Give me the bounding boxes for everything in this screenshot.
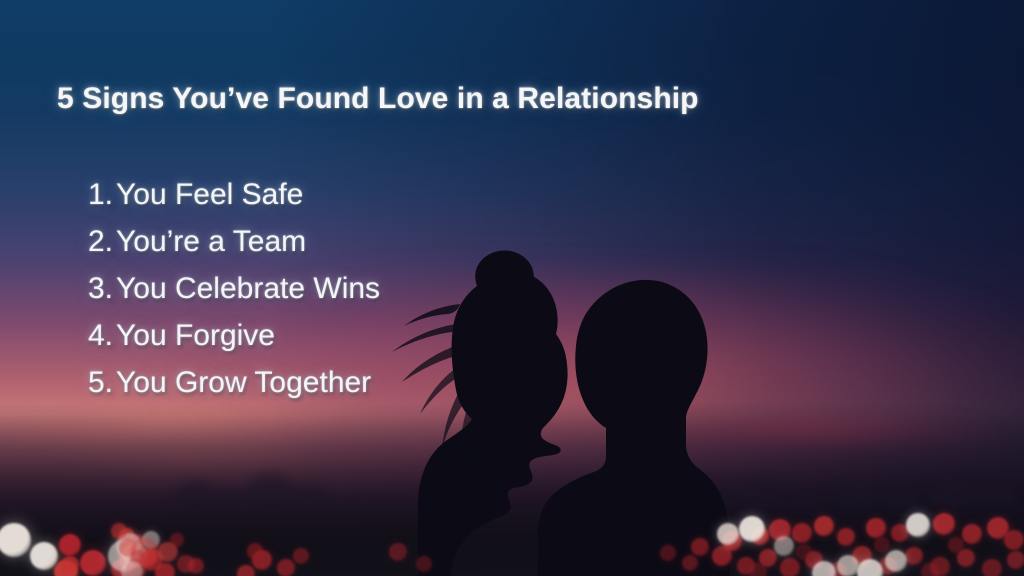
list-item-number: 2. (88, 225, 116, 259)
bokeh-light (237, 565, 255, 576)
bokeh-light (792, 523, 812, 543)
bokeh-light (948, 537, 964, 553)
bokeh-light (717, 523, 739, 545)
list-item-label: You Celebrate Wins (116, 272, 380, 306)
bokeh-light (416, 556, 432, 572)
bokeh-light (0, 523, 31, 557)
list-item: 4.You Forgive (88, 319, 380, 366)
bokeh-light (749, 563, 767, 576)
list-item: 1.You Feel Safe (88, 178, 380, 225)
list-item-label: You Feel Safe (116, 178, 303, 212)
list-item-number: 5. (88, 366, 116, 400)
list-item-number: 3. (88, 272, 116, 306)
bokeh-light (111, 523, 127, 539)
bokeh-light (885, 550, 907, 572)
bokeh-light (982, 559, 1002, 576)
bokeh-light (774, 536, 794, 556)
bokeh-light (30, 542, 58, 570)
bokeh-light (796, 544, 812, 560)
bokeh-light (277, 559, 295, 576)
list-item-label: You’re a Team (116, 225, 306, 259)
bokeh-light (874, 537, 890, 553)
bokeh-light (61, 556, 79, 574)
list-item: 3.You Celebrate Wins (88, 272, 380, 319)
list-item-number: 4. (88, 319, 116, 353)
bokeh-light (293, 548, 309, 564)
bokeh-light (837, 555, 859, 576)
bokeh-light (921, 563, 939, 576)
bokeh-light (177, 555, 195, 573)
bokeh-light (866, 518, 886, 538)
bokeh-light (691, 538, 709, 556)
signs-list: 1.You Feel Safe2.You’re a Team3.You Cele… (88, 178, 380, 413)
list-item-label: You Grow Together (116, 366, 371, 400)
list-item-number: 1. (88, 178, 116, 212)
bokeh-light (170, 533, 184, 547)
bokeh-light (814, 516, 834, 536)
bokeh-light (962, 524, 982, 544)
list-item-label: You Forgive (116, 319, 275, 353)
bokeh-light (905, 547, 923, 565)
bokeh-light (837, 528, 855, 546)
slide-canvas: 5 Signs You’ve Found Love in a Relations… (0, 0, 1024, 576)
bokeh-light (59, 534, 81, 556)
bokeh-light (247, 543, 263, 559)
bokeh-light (389, 543, 407, 561)
bokeh-light (780, 558, 800, 576)
bokeh-light (906, 513, 930, 537)
bokeh-light (1004, 530, 1024, 550)
bokeh-light (121, 561, 143, 576)
bokeh-light (682, 555, 698, 571)
bokeh-light (739, 516, 765, 542)
list-item: 2.You’re a Team (88, 225, 380, 272)
bokeh-light (660, 545, 676, 561)
bokeh-light (712, 546, 732, 566)
bokeh-light (1007, 551, 1024, 569)
bokeh-light (933, 513, 955, 535)
list-item: 5.You Grow Together (88, 366, 380, 413)
page-title: 5 Signs You’ve Found Love in a Relations… (57, 82, 699, 116)
bokeh-light (80, 550, 106, 576)
